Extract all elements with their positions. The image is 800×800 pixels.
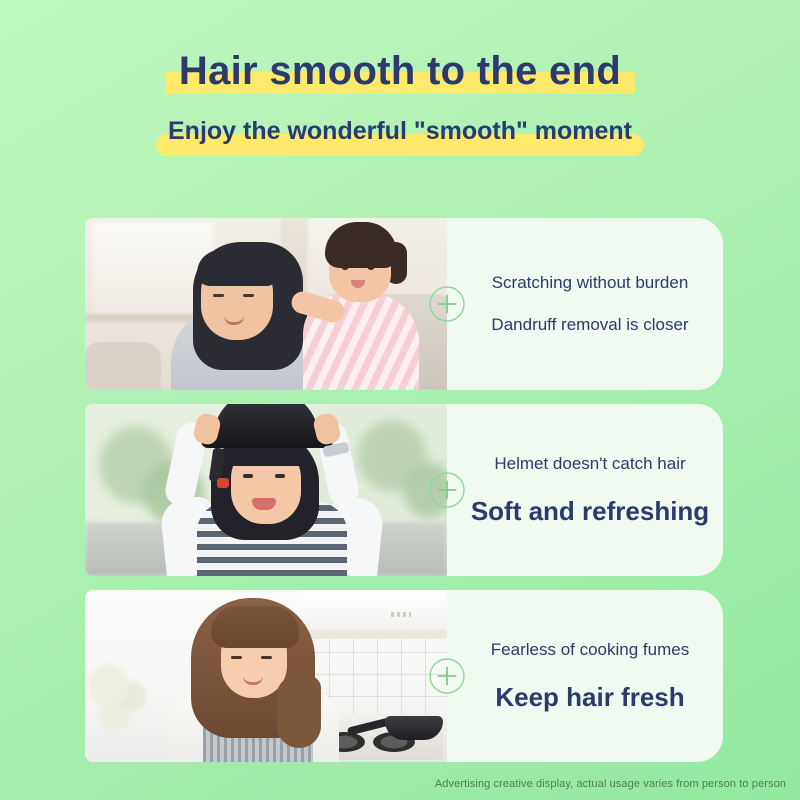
subtitle-row: Enjoy the wonderful "smooth" moment bbox=[0, 114, 800, 148]
card-line-secondary: Dandruff removal is closer bbox=[491, 315, 688, 335]
subtitle-highlight-wrap: Enjoy the wonderful "smooth" moment bbox=[168, 114, 632, 148]
promo-header: Hair smooth to the end Enjoy the wonderf… bbox=[0, 46, 800, 148]
plus-icon[interactable] bbox=[428, 471, 466, 509]
feature-card-list: Scratching without burden Dandruff remov… bbox=[85, 218, 723, 776]
photo-woman-cooking-in-kitchen bbox=[85, 590, 447, 762]
card-line-secondary: Keep hair fresh bbox=[495, 682, 684, 713]
feature-card[interactable]: Scratching without burden Dandruff remov… bbox=[85, 218, 723, 390]
card-line-primary: Helmet doesn't catch hair bbox=[494, 454, 685, 474]
card-text: Scratching without burden Dandruff remov… bbox=[447, 218, 723, 390]
title-highlight-wrap: Hair smooth to the end bbox=[179, 46, 621, 96]
disclaimer-text: Advertising creative display, actual usa… bbox=[435, 778, 786, 790]
card-line-secondary: Soft and refreshing bbox=[471, 496, 709, 527]
card-photo bbox=[85, 218, 447, 390]
card-line-primary: Fearless of cooking fumes bbox=[491, 640, 689, 660]
photo-woman-removing-helmet bbox=[85, 404, 447, 576]
card-text: Helmet doesn't catch hair Soft and refre… bbox=[447, 404, 723, 576]
card-text: Fearless of cooking fumes Keep hair fres… bbox=[447, 590, 723, 762]
page-subtitle: Enjoy the wonderful "smooth" moment bbox=[168, 117, 632, 145]
plus-icon[interactable] bbox=[428, 657, 466, 695]
card-line-primary: Scratching without burden bbox=[492, 273, 689, 293]
card-photo bbox=[85, 404, 447, 576]
feature-card[interactable]: Fearless of cooking fumes Keep hair fres… bbox=[85, 590, 723, 762]
plus-icon[interactable] bbox=[428, 285, 466, 323]
photo-mother-and-daughter-brushing-hair bbox=[85, 218, 447, 390]
page-title: Hair smooth to the end bbox=[179, 49, 621, 93]
feature-card[interactable]: Helmet doesn't catch hair Soft and refre… bbox=[85, 404, 723, 576]
card-photo bbox=[85, 590, 447, 762]
